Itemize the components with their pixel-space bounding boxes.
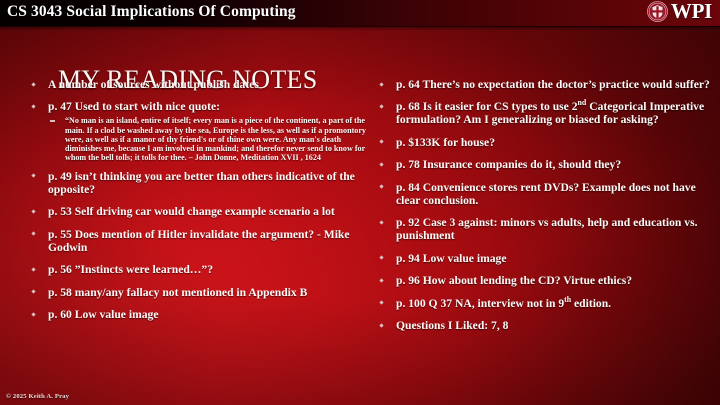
bullet-text: p. 55 Does mention of Hitler invalidate …: [48, 228, 350, 254]
bullet-text: A number of sources without publish date…: [48, 78, 259, 91]
course-title: CS 3043 Social Implications Of Computing: [7, 3, 296, 21]
bullet-marker-icon: [379, 278, 383, 282]
bullet-text: p. 94 Low value image: [396, 252, 506, 265]
bullet-marker-icon: [31, 174, 35, 178]
bullet-marker-icon: [31, 209, 35, 213]
bullet-text: p. 60 Low value image: [48, 308, 158, 321]
bullet-item: p. 58 many/any fallacy not mentioned in …: [26, 286, 366, 299]
slide-header-bar: CS 3043 Social Implications Of Computing: [0, 0, 720, 26]
bullet-item: p. 68 Is it easier for CS types to use 2…: [374, 100, 710, 126]
bullet-text: p. 92 Case 3 against: minors vs adults, …: [396, 216, 698, 242]
bullet-item: Questions I Liked: 7, 8: [374, 319, 710, 332]
bullet-marker-icon: [379, 140, 383, 144]
bullet-marker-icon: [379, 301, 383, 305]
wpi-seal-icon: [647, 1, 668, 22]
bullet-marker-icon: [31, 312, 35, 316]
bullet-item: p. 56 ”Instincts were learned…”?: [26, 263, 366, 276]
bullet-marker-icon: [379, 256, 383, 260]
bullet-text: p. 47 Used to start with nice quote:: [48, 100, 220, 113]
bullet-text: p. 49 isn’t thinking you are better than…: [48, 170, 355, 196]
bullet-marker-icon: [31, 104, 35, 108]
dash-marker-icon: [50, 120, 55, 121]
bullet-marker-icon: [379, 82, 383, 86]
bullet-item: p. 47 Used to start with nice quote:“No …: [26, 100, 366, 161]
slide-canvas: CS 3043 Social Implications Of Computing…: [0, 0, 720, 405]
sub-bullet-text: “No man is an island, entire of itself; …: [65, 116, 366, 161]
footer-copyright: © 2025 Keith A. Pray: [6, 393, 69, 400]
bullet-marker-icon: [31, 267, 35, 271]
bullet-item: p. 100 Q 37 NA, interview not in 9th edi…: [374, 297, 710, 310]
bullet-item: A number of sources without publish date…: [26, 78, 366, 91]
bullet-text: p. $133K for house?: [396, 136, 495, 149]
bullet-marker-icon: [31, 232, 35, 236]
bullet-text: p. 84 Convenience stores rent DVDs? Exam…: [396, 181, 696, 207]
bullet-text: p. 100 Q 37 NA, interview not in 9th edi…: [396, 297, 611, 310]
left-column: A number of sources without publish date…: [26, 78, 366, 331]
bullet-text: p. 96 How about lending the CD? Virtue e…: [396, 274, 632, 287]
bullet-item: p. 55 Does mention of Hitler invalidate …: [26, 228, 366, 254]
bullet-marker-icon: [379, 323, 383, 327]
bullet-item: p. 92 Case 3 against: minors vs adults, …: [374, 216, 710, 242]
right-column: p. 64 There’s no expectation the doctor’…: [374, 78, 710, 342]
bullet-text: Questions I Liked: 7, 8: [396, 319, 508, 332]
bullet-item: p. 78 Insurance companies do it, should …: [374, 158, 710, 171]
bullet-text: p. 68 Is it easier for CS types to use 2…: [396, 100, 704, 126]
bullet-item: p. 60 Low value image: [26, 308, 366, 321]
bullet-text: p. 56 ”Instincts were learned…”?: [48, 263, 213, 276]
right-bullet-list: p. 64 There’s no expectation the doctor’…: [374, 78, 710, 332]
bullet-marker-icon: [379, 104, 383, 108]
bullet-marker-icon: [31, 290, 35, 294]
bullet-item: p. 64 There’s no expectation the doctor’…: [374, 78, 710, 91]
bullet-text: p. 53 Self driving car would change exam…: [48, 205, 335, 218]
left-bullet-list: A number of sources without publish date…: [26, 78, 366, 321]
bullet-text: p. 64 There’s no expectation the doctor’…: [396, 78, 710, 91]
bullet-text: p. 78 Insurance companies do it, should …: [396, 158, 621, 171]
bullet-marker-icon: [379, 162, 383, 166]
bullet-item: p. 94 Low value image: [374, 252, 710, 265]
bullet-marker-icon: [379, 185, 383, 189]
bullet-item: p. 84 Convenience stores rent DVDs? Exam…: [374, 181, 710, 207]
sub-bullet-list: “No man is an island, entire of itself; …: [48, 116, 366, 161]
wpi-logo: WPI: [647, 1, 712, 22]
bullet-text: p. 58 many/any fallacy not mentioned in …: [48, 286, 307, 299]
bullet-item: p. 49 isn’t thinking you are better than…: [26, 170, 366, 196]
bullet-marker-icon: [379, 220, 383, 224]
bullet-item: p. 96 How about lending the CD? Virtue e…: [374, 274, 710, 287]
bullet-item: p. $133K for house?: [374, 136, 710, 149]
bullet-item: p. 53 Self driving car would change exam…: [26, 205, 366, 218]
wpi-wordmark: WPI: [671, 1, 712, 22]
sub-bullet-item: “No man is an island, entire of itself; …: [48, 116, 366, 161]
bullet-marker-icon: [31, 82, 35, 86]
